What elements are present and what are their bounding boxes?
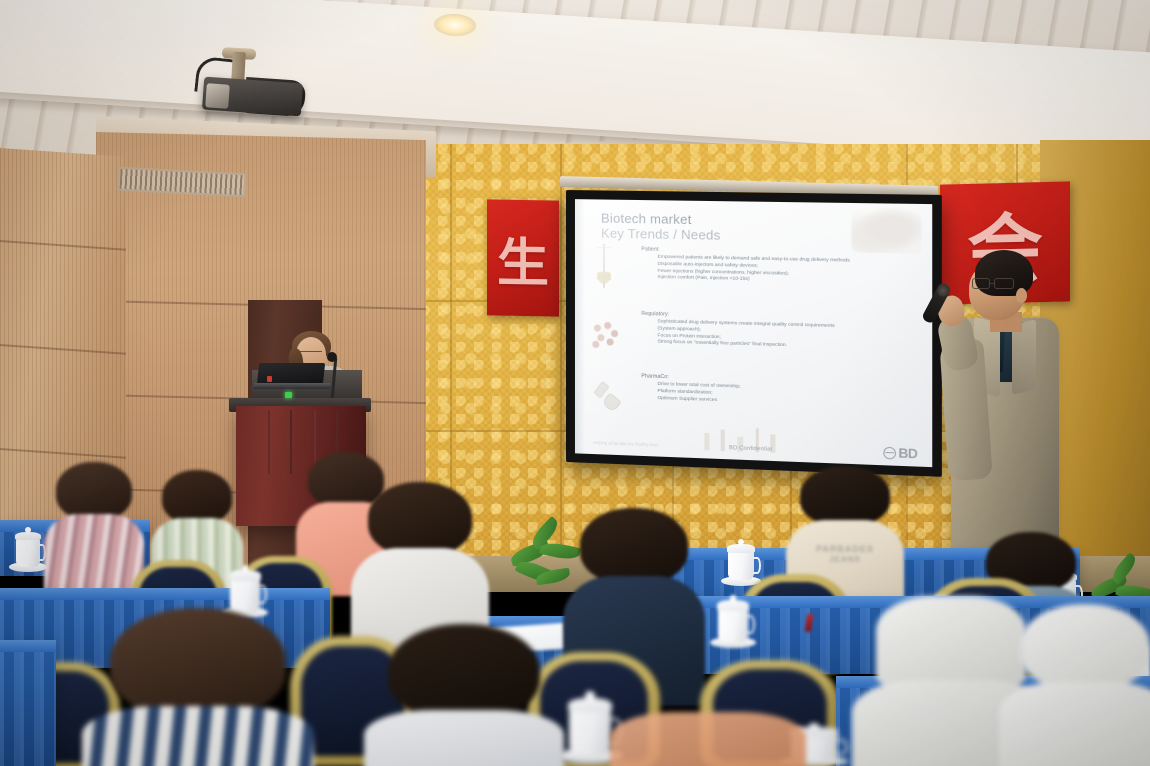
shirt-print-line1: PARBADES <box>800 544 890 554</box>
slide-edge-shading <box>575 199 585 454</box>
baby-photo-icon <box>852 207 922 254</box>
bullet: Optimum Supplier services <box>657 396 740 405</box>
banner-glyph-left: 生 <box>487 199 559 316</box>
projection-screen: Biotech market Key Trends / Needs Patien… <box>566 190 942 477</box>
slide-title: Biotech market Key Trends / Needs <box>601 212 721 243</box>
red-banner-left: 生 <box>487 199 559 316</box>
projector-lens-icon <box>205 83 230 109</box>
laptop-base[interactable] <box>254 383 331 389</box>
slide-tagline: Helping all people live healthy lives <box>593 440 658 448</box>
syringe-icon <box>597 244 611 286</box>
vials-illustration-icon <box>698 424 797 458</box>
slide-title-line2: Key Trends / Needs <box>601 226 721 243</box>
audience-member <box>388 624 540 766</box>
podium-indicator-red <box>267 376 272 382</box>
table-row <box>0 640 56 766</box>
conference-room-photo: 生 会 Biotech market Key Trends / Needs Pa… <box>0 0 1150 766</box>
audience-member <box>56 462 132 602</box>
bd-logo-text: BD <box>898 445 917 461</box>
protein-molecule-icon <box>589 318 623 353</box>
audience-member <box>110 608 286 766</box>
slide-section-pharmaco: PharmaCo: Drive to lower total cost of o… <box>641 373 740 405</box>
presentation-slide: Biotech market Key Trends / Needs Patien… <box>575 199 932 467</box>
gooseneck-mic-icon <box>327 352 337 362</box>
audience-member <box>634 628 782 766</box>
podium-speaker-glasses-icon <box>300 351 322 356</box>
bd-logo: BD <box>884 445 918 462</box>
flask-icon <box>593 380 623 413</box>
slide-section-patient: Patient: Empowered patients are likely t… <box>641 246 850 286</box>
audience-member <box>1020 604 1150 766</box>
shirt-print-line2: JEANS <box>800 555 890 565</box>
eyeglasses-icon <box>972 278 1016 291</box>
slide-section-regulatory: Regulatory: Sophisticated drug delivery … <box>641 311 851 352</box>
bd-circle-mark-icon <box>884 446 897 459</box>
podium-indicator-green <box>285 392 292 398</box>
teacup <box>566 692 614 764</box>
teacup <box>14 528 42 572</box>
wall-grid-line <box>560 144 562 574</box>
presenter-ear <box>1016 288 1027 303</box>
